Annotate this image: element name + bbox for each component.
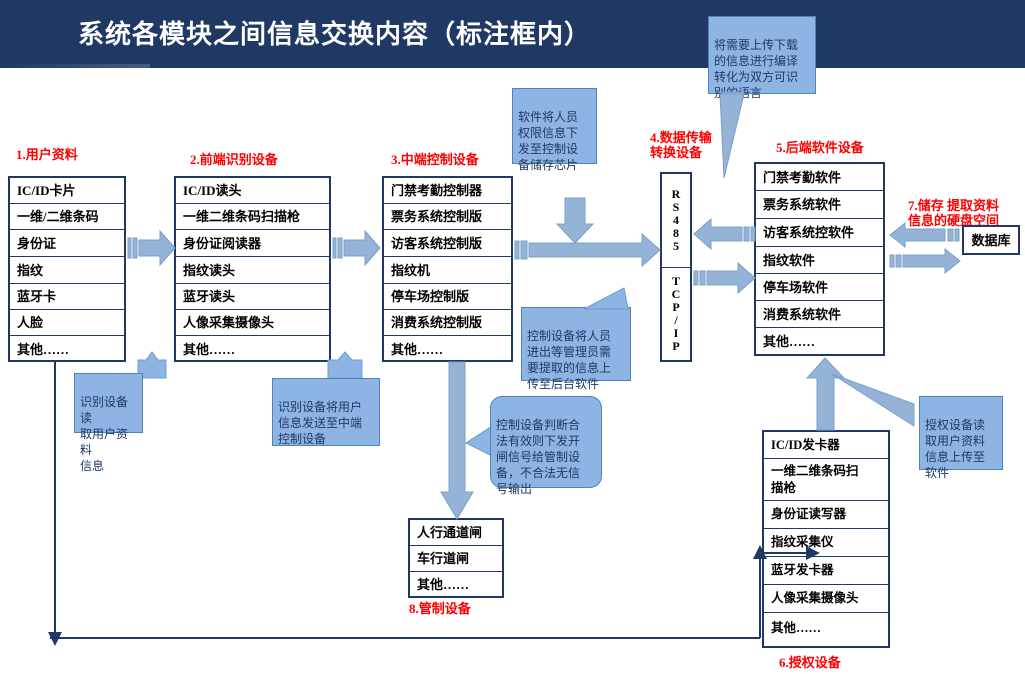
list-item: 其他…… bbox=[756, 328, 883, 354]
arrow-backend-to-database bbox=[890, 248, 962, 274]
callout-text: 软件将人员 权限信息下 发至控制设 备储存芯片 bbox=[518, 110, 578, 172]
arrow-callout-software-down bbox=[556, 198, 594, 244]
list-item: 人脸 bbox=[10, 310, 124, 336]
page-title: 系统各模块之间信息交换内容（标注框内） bbox=[78, 14, 591, 51]
callout-tail-4 bbox=[700, 92, 744, 172]
list-item: 人像采集摄像头 bbox=[176, 310, 329, 336]
list-item: IC/ID卡片 bbox=[10, 178, 124, 204]
arrow-user-to-frontend bbox=[128, 228, 176, 268]
callout-authorize-read-upload: 授权设备读 取用户资料 信息上传至 软件 bbox=[919, 396, 1003, 470]
list-item: 票务系统软件 bbox=[756, 191, 883, 219]
header-swoosh bbox=[0, 64, 150, 74]
box-mid-control: 门禁考勤控制器 票务系统控制版 访客系统控制版 指纹机 停车场控制版 消费系统控… bbox=[382, 176, 513, 362]
list-item: 门禁考勤软件 bbox=[756, 164, 883, 191]
list-item: 门禁考勤控制器 bbox=[384, 178, 511, 204]
callout-text: 授权设备读 取用户资料 信息上传至 软件 bbox=[925, 418, 985, 480]
box-database: 数据库 bbox=[962, 225, 1020, 255]
list-item: 访客系统控制版 bbox=[384, 230, 511, 257]
callout-control-upload-info: 控制设备将人员 进出等管理员需 要提取的信息上 传至后台软件 bbox=[521, 307, 631, 381]
arrow-database-to-backend bbox=[890, 222, 962, 248]
callout-tail-5 bbox=[584, 288, 628, 310]
callout-text: 控制设备将人员 进出等管理员需 要提取的信息上 传至后台软件 bbox=[527, 329, 611, 391]
list-item: 指纹读头 bbox=[176, 257, 329, 284]
arrow-converter-to-backend bbox=[694, 262, 756, 294]
list-item: 指纹机 bbox=[384, 257, 511, 284]
callout-gate-signal-decision: 控制设备判断合 法有效则下发开 闸信号给管制设 备，不合法无信 号输出 bbox=[490, 396, 602, 488]
callout-pointer-7 bbox=[832, 374, 914, 430]
box-back-end: 门禁考勤软件 票务系统软件 访客系统控软件 指纹软件 停车场软件 消费系统软件 … bbox=[754, 162, 885, 356]
group-label-6: 6.授权设备 bbox=[779, 655, 841, 670]
list-item: 一维二维条码扫描枪 bbox=[176, 204, 329, 230]
box-front-end: IC/ID读头 一维二维条码扫描枪 身份证阅读器 指纹读头 蓝牙读头 人像采集摄… bbox=[174, 176, 331, 362]
list-item: 蓝牙卡 bbox=[10, 284, 124, 310]
connector-bottom-to-authorize bbox=[660, 540, 770, 650]
arrow-frontend-to-mid bbox=[333, 228, 381, 268]
list-item: 票务系统控制版 bbox=[384, 204, 511, 230]
list-item: 数据库 bbox=[964, 227, 1018, 253]
box-user-data: IC/ID卡片 一维/二维条码 身份证 指纹 蓝牙卡 人脸 其他…… bbox=[8, 176, 126, 362]
box-protocol-converter: RS485 TCP/IP bbox=[660, 172, 692, 362]
title-bar: 系统各模块之间信息交换内容（标注框内） bbox=[0, 0, 1025, 68]
callout-text: 将需要上传下载 的信息进行编译 转化为双方可识 别的语言 bbox=[714, 38, 798, 100]
list-item: 指纹 bbox=[10, 257, 124, 284]
list-item: 一维/二维条码 bbox=[10, 204, 124, 230]
list-item: 停车场软件 bbox=[756, 274, 883, 301]
callout-recognize-send-to-mid: 识别设备将用户 信息发送至中端 控制设备 bbox=[272, 378, 380, 446]
callout-text: 控制设备判断合 法有效则下发开 闸信号给管制设 备，不合法无信 号输出 bbox=[496, 418, 580, 496]
list-item: 消费系统控制版 bbox=[384, 310, 511, 336]
protocol-rs485: RS485 bbox=[662, 174, 690, 268]
group-label-3: 3.中端控制设备 bbox=[391, 152, 479, 167]
callout-protocol-translate: 将需要上传下载 的信息进行编译 转化为双方可识 别的语言 bbox=[708, 16, 816, 94]
list-item: 访客系统控软件 bbox=[756, 219, 883, 247]
arrow-backend-to-converter bbox=[694, 218, 756, 250]
group-label-5: 5.后端软件设备 bbox=[776, 140, 864, 155]
list-item: 停车场控制版 bbox=[384, 284, 511, 310]
callout-recognize-read-user-data: 识别设备读 取用户资料 信息 bbox=[74, 373, 143, 433]
callout-text: 识别设备将用户 信息发送至中端 控制设备 bbox=[278, 400, 362, 446]
list-item: 身份证阅读器 bbox=[176, 230, 329, 257]
list-item: 身份证 bbox=[10, 230, 124, 257]
group-label-2: 2.前端识别设备 bbox=[190, 152, 278, 167]
list-item: 蓝牙读头 bbox=[176, 284, 329, 310]
protocol-tcpip: TCP/IP bbox=[662, 268, 690, 361]
list-item: 指纹软件 bbox=[756, 247, 883, 274]
group-label-1: 1.用户资料 bbox=[16, 147, 78, 162]
callout-software-push-permission: 软件将人员 权限信息下 发至控制设 备储存芯片 bbox=[512, 88, 597, 164]
list-item: 消费系统软件 bbox=[756, 301, 883, 328]
list-item: IC/ID读头 bbox=[176, 178, 329, 204]
